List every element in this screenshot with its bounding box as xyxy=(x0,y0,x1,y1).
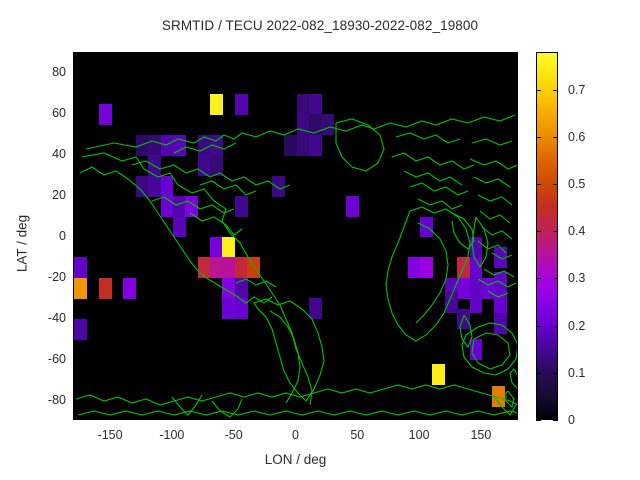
heatmap-cell xyxy=(494,247,507,268)
x-tick-label: -150 xyxy=(98,428,123,442)
colorbar-tick-label: 0.7 xyxy=(568,83,585,97)
heatmap-cell xyxy=(309,298,322,319)
colorbar-gradient xyxy=(536,52,558,420)
x-tick-label: 150 xyxy=(470,428,491,442)
y-tick-label: -80 xyxy=(20,393,66,407)
heatmap-cell xyxy=(321,114,334,135)
heatmap-cell xyxy=(74,257,87,278)
heatmap-cell xyxy=(136,176,149,197)
heatmap-cell xyxy=(161,135,174,156)
colorbar-tick xyxy=(536,231,541,232)
heatmap-cell xyxy=(222,237,235,258)
heatmap-cell xyxy=(210,94,223,115)
heatmap-cell xyxy=(297,135,310,156)
heatmap-cell xyxy=(309,94,322,115)
heatmap-cell xyxy=(297,114,310,135)
colorbar[interactable]: 00.10.20.30.40.50.60.7 xyxy=(536,52,558,420)
colorbar-tick-label: 0.3 xyxy=(568,271,585,285)
heatmap-cell xyxy=(148,135,161,156)
heatmap-cell xyxy=(445,292,458,313)
heatmap-cell xyxy=(408,257,421,278)
heatmap-cell xyxy=(247,257,260,278)
heatmap-cell xyxy=(420,217,433,238)
heatmap-cell xyxy=(198,135,211,156)
heatmap-cell xyxy=(222,257,235,278)
colorbar-tick xyxy=(553,184,558,185)
y-tick-label: -60 xyxy=(20,352,66,366)
heatmap-cell xyxy=(470,292,483,313)
colorbar-tick xyxy=(536,184,541,185)
colorbar-tick-label: 0.4 xyxy=(568,224,585,238)
heatmap-cell xyxy=(222,278,235,299)
heatmap-cell xyxy=(457,278,470,299)
heatmap-cell xyxy=(284,135,297,156)
colorbar-tick xyxy=(536,278,541,279)
heatmap-cell xyxy=(136,135,149,156)
x-tick-label: 100 xyxy=(409,428,430,442)
heatmap-cell xyxy=(235,298,248,319)
x-tick-label: 0 xyxy=(292,428,299,442)
page-title: SRMTID / TECU 2022-082_18930-2022-082_19… xyxy=(0,18,640,33)
colorbar-tick xyxy=(536,137,541,138)
colorbar-tick xyxy=(553,420,558,421)
colorbar-tick xyxy=(553,373,558,374)
heatmap-cell xyxy=(173,196,186,217)
x-axis-label: LON / deg xyxy=(73,452,518,467)
heatmap-cell xyxy=(272,176,285,197)
heatmap-cell xyxy=(470,237,483,258)
heatmap-cell xyxy=(309,114,322,135)
heatmap-cell xyxy=(185,196,198,217)
heatmap-cell xyxy=(235,278,248,299)
map-plot-area[interactable] xyxy=(73,52,518,420)
heatmap-cell xyxy=(148,176,161,197)
heatmap-cell xyxy=(457,257,470,278)
heatmap-cell xyxy=(432,364,445,385)
heatmap-cell xyxy=(210,135,223,156)
heatmap-cell xyxy=(494,292,507,313)
colorbar-tick xyxy=(553,90,558,91)
heatmap-cell xyxy=(492,386,505,407)
heatmap-cell xyxy=(198,257,211,278)
heatmap-cell xyxy=(210,257,223,278)
heatmap-cell xyxy=(235,196,248,217)
colorbar-tick xyxy=(553,137,558,138)
figure-canvas: SRMTID / TECU 2022-082_18930-2022-082_19… xyxy=(0,0,640,480)
x-tick-label: -100 xyxy=(159,428,184,442)
colorbar-tick xyxy=(553,278,558,279)
heatmap-cell xyxy=(161,176,174,197)
heatmap-cell xyxy=(346,196,359,217)
heatmap-cell xyxy=(470,257,483,278)
colorbar-tick xyxy=(536,326,541,327)
colorbar-tick xyxy=(536,420,541,421)
y-axis-label: LAT / deg xyxy=(15,184,30,304)
heatmap-cells xyxy=(74,53,518,420)
heatmap-cell xyxy=(161,196,174,217)
colorbar-tick-label: 0.1 xyxy=(568,366,585,380)
heatmap-cell xyxy=(173,135,186,156)
heatmap-cell xyxy=(198,155,211,176)
colorbar-tick-label: 0.5 xyxy=(568,177,585,191)
heatmap-cell xyxy=(99,104,112,125)
heatmap-cell xyxy=(74,319,87,340)
heatmap-cell xyxy=(420,257,433,278)
x-tick-label: -50 xyxy=(225,428,243,442)
heatmap-cell xyxy=(222,298,235,319)
heatmap-cell xyxy=(309,135,322,156)
y-tick-label: 60 xyxy=(20,106,66,120)
heatmap-cell xyxy=(494,313,507,334)
colorbar-tick-label: 0.6 xyxy=(568,130,585,144)
heatmap-cell xyxy=(210,237,223,258)
heatmap-cell xyxy=(123,278,136,299)
heatmap-cell xyxy=(148,155,161,176)
heatmap-cell xyxy=(470,339,483,360)
heatmap-cell xyxy=(482,278,495,299)
colorbar-tick xyxy=(536,373,541,374)
x-axis-ticks: -150-100-50050100150 xyxy=(73,428,518,448)
colorbar-tick xyxy=(536,90,541,91)
colorbar-tick-label: 0.2 xyxy=(568,319,585,333)
heatmap-cell xyxy=(210,155,223,176)
y-tick-label: 40 xyxy=(20,147,66,161)
heatmap-cell xyxy=(235,94,248,115)
y-tick-label: -40 xyxy=(20,311,66,325)
y-tick-label: 80 xyxy=(20,65,66,79)
colorbar-tick xyxy=(553,326,558,327)
heatmap-cell xyxy=(173,217,186,238)
heatmap-cell xyxy=(494,272,507,293)
x-tick-label: 50 xyxy=(350,428,364,442)
heatmap-cell xyxy=(297,94,310,115)
colorbar-tick xyxy=(553,231,558,232)
heatmap-cell xyxy=(74,278,87,299)
heatmap-cell xyxy=(235,257,248,278)
heatmap-cell xyxy=(457,309,470,330)
colorbar-tick-label: 0 xyxy=(568,413,575,427)
heatmap-cell xyxy=(99,278,112,299)
